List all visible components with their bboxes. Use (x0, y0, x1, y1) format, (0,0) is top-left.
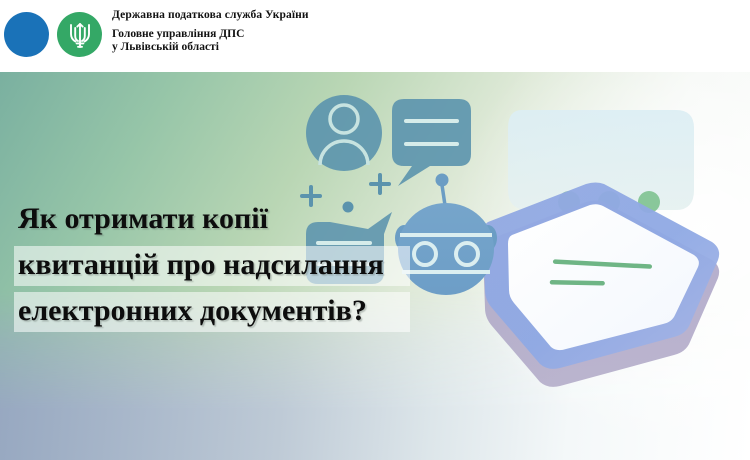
title-line-1: Як отримати копії (0, 196, 430, 242)
organization-subtitle-line2: у Львівській області (112, 41, 412, 54)
message-bubble-top (392, 99, 471, 186)
organization-title: Державна податкова служба України (112, 8, 412, 22)
user-avatar-icon (306, 95, 382, 171)
title-line-2-text: квитанцій про надсилання (18, 248, 384, 281)
logo-blue-circle-icon (4, 12, 49, 57)
organization-subtitle: Головне управління ДПС у Львівській обла… (112, 28, 412, 53)
organization-text: Державна податкова служба України Головн… (112, 8, 412, 53)
organization-subtitle-line1: Головне управління ДПС (112, 28, 412, 41)
dps-info-banner: Як отримати копії квитанцій про надсилан… (0, 0, 750, 460)
title-line-3-text: електронних документів? (18, 294, 367, 327)
site-header: Державна податкова служба України Головн… (0, 0, 750, 72)
title-line-3: електронних документів? (0, 288, 430, 334)
banner-title: Як отримати копії квитанцій про надсилан… (0, 196, 430, 334)
title-line-2: квитанцій про надсилання (0, 242, 430, 288)
plus-icon-right (371, 175, 389, 193)
tablet-device (483, 183, 719, 387)
ukraine-trident-icon (57, 12, 102, 57)
title-line-1-text: Як отримати копії (18, 202, 268, 235)
